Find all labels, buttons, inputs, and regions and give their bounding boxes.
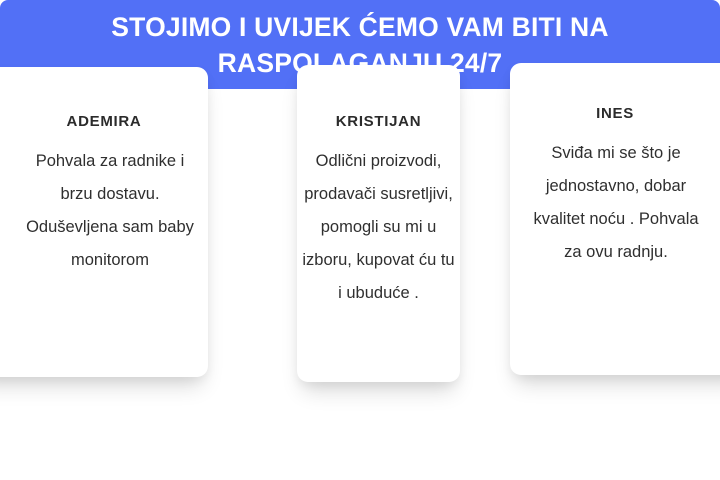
testimonial-card-kristijan: KRISTIJAN Odlični proizvodi, prodavači s… (297, 65, 460, 382)
testimonial-card-ademira: ADEMIRA Pohvala za radnike i brzu dostav… (0, 67, 208, 377)
testimonials-section: ADEMIRA Pohvala za radnike i brzu dostav… (0, 89, 720, 480)
testimonial-name: KRISTIJAN (297, 113, 460, 131)
testimonial-quote: Sviđa mi se što je jednostavno, dobar kv… (530, 137, 702, 269)
testimonial-name: INES (530, 105, 700, 123)
testimonial-quote: Pohvala za radnike i brzu dostavu. Oduše… (22, 145, 198, 277)
testimonial-quote: Odlični proizvodi, prodavači susretljivi… (300, 145, 458, 310)
testimonial-card-ines: INES Sviđa mi se što je jednostavno, dob… (510, 63, 720, 375)
testimonial-name: ADEMIRA (22, 113, 186, 131)
